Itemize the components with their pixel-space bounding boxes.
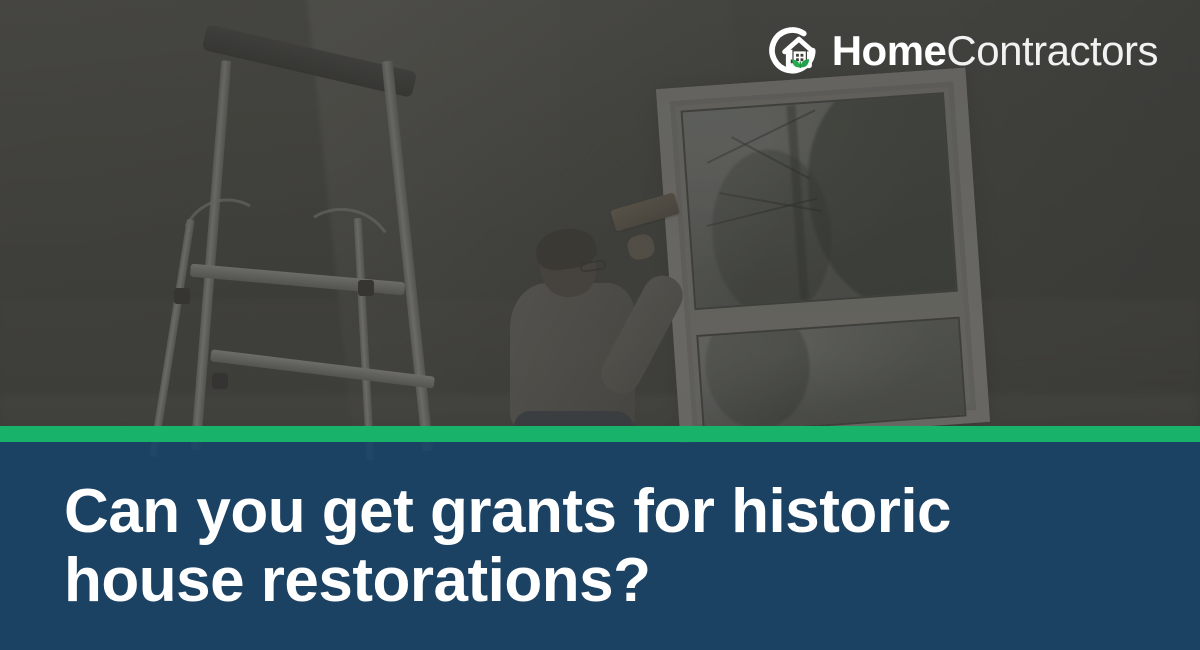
logo-brand-primary: Home: [832, 27, 947, 74]
logo-wordmark: HomeContractors: [832, 30, 1158, 72]
logo-brand-secondary: Contractors: [946, 27, 1158, 74]
hero-title-panel: Can you get grants for historic house re…: [0, 442, 1200, 650]
page-title: Can you get grants for historic house re…: [0, 477, 1080, 616]
green-accent-bar: [0, 426, 1200, 442]
home-contractors-house-leaf-logo-icon: [768, 25, 820, 77]
site-logo[interactable]: HomeContractors: [768, 25, 1158, 77]
article-hero-banner: HomeContractors Can you get grants for h…: [0, 0, 1200, 650]
